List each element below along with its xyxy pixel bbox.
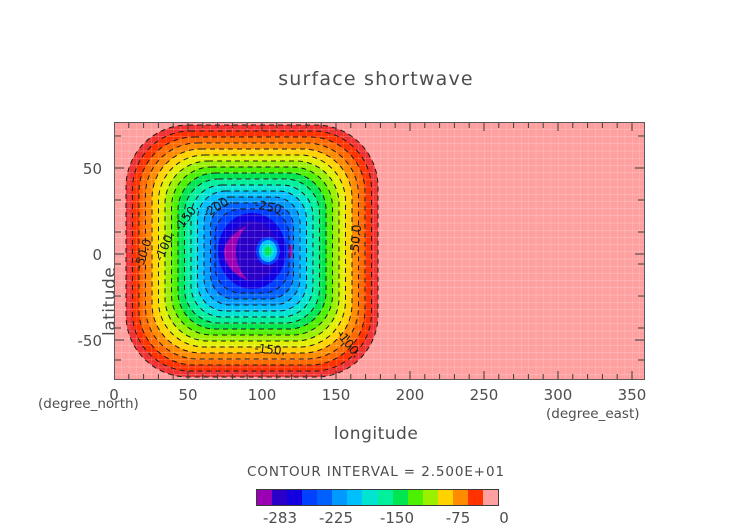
x-tick-label-150: 150 [306, 386, 366, 404]
x-tick-label-50: 50 [158, 386, 218, 404]
colorbar-label--225: -225 [306, 509, 366, 527]
colorbar-swatch-15 [483, 490, 498, 505]
y-tick-label--50: -50 [56, 332, 102, 350]
x-axis-label: longitude [0, 424, 752, 444]
colorbar-swatch-1 [272, 490, 287, 505]
x-tick-label-100: 100 [232, 386, 292, 404]
colorbar-swatch-4 [317, 490, 332, 505]
colorbar-swatch-7 [362, 490, 377, 505]
plot-area: -50.0 -100. -150. -200. -250. -50.0 -100… [114, 122, 645, 380]
chart-title: surface shortwave [0, 68, 752, 90]
colorbar-swatch-5 [332, 490, 347, 505]
colorbar-swatch-6 [347, 490, 362, 505]
colorbar-label--283: -283 [250, 509, 310, 527]
colorbar-swatch-9 [393, 490, 408, 505]
x-axis-unit: (degree_east) [546, 406, 640, 422]
colorbar-swatch-8 [378, 490, 393, 505]
colorbar-swatch-14 [468, 490, 483, 505]
y-tick-label-50: 50 [56, 160, 102, 178]
colorbar-swatch-10 [408, 490, 423, 505]
colorbar [256, 489, 499, 506]
colorbar-title: CONTOUR INTERVAL = 2.500E+01 [0, 464, 752, 480]
y-axis-unit: (degree_north) [38, 396, 139, 412]
y-axis-label: latitude [100, 267, 120, 336]
y-tick-label-0: 0 [56, 246, 102, 264]
colorbar-swatch-0 [257, 490, 272, 505]
contour-plot: -50.0 -100. -150. -200. -250. -50.0 -100… [114, 122, 645, 380]
colorbar-swatch-11 [423, 490, 438, 505]
x-tick-label-200: 200 [380, 386, 440, 404]
colorbar-label-0: 0 [474, 509, 534, 527]
colorbar-swatch-2 [287, 490, 302, 505]
x-tick-label-350: 350 [602, 386, 662, 404]
colorbar-labels: -283 -225 -150 -75 0 [0, 509, 752, 529]
colorbar-label--150: -150 [367, 509, 427, 527]
x-tick-label-250: 250 [454, 386, 514, 404]
x-tick-label-300: 300 [528, 386, 588, 404]
colorbar-swatch-3 [302, 490, 317, 505]
colorbar-swatch-13 [453, 490, 468, 505]
colorbar-swatch-12 [438, 490, 453, 505]
